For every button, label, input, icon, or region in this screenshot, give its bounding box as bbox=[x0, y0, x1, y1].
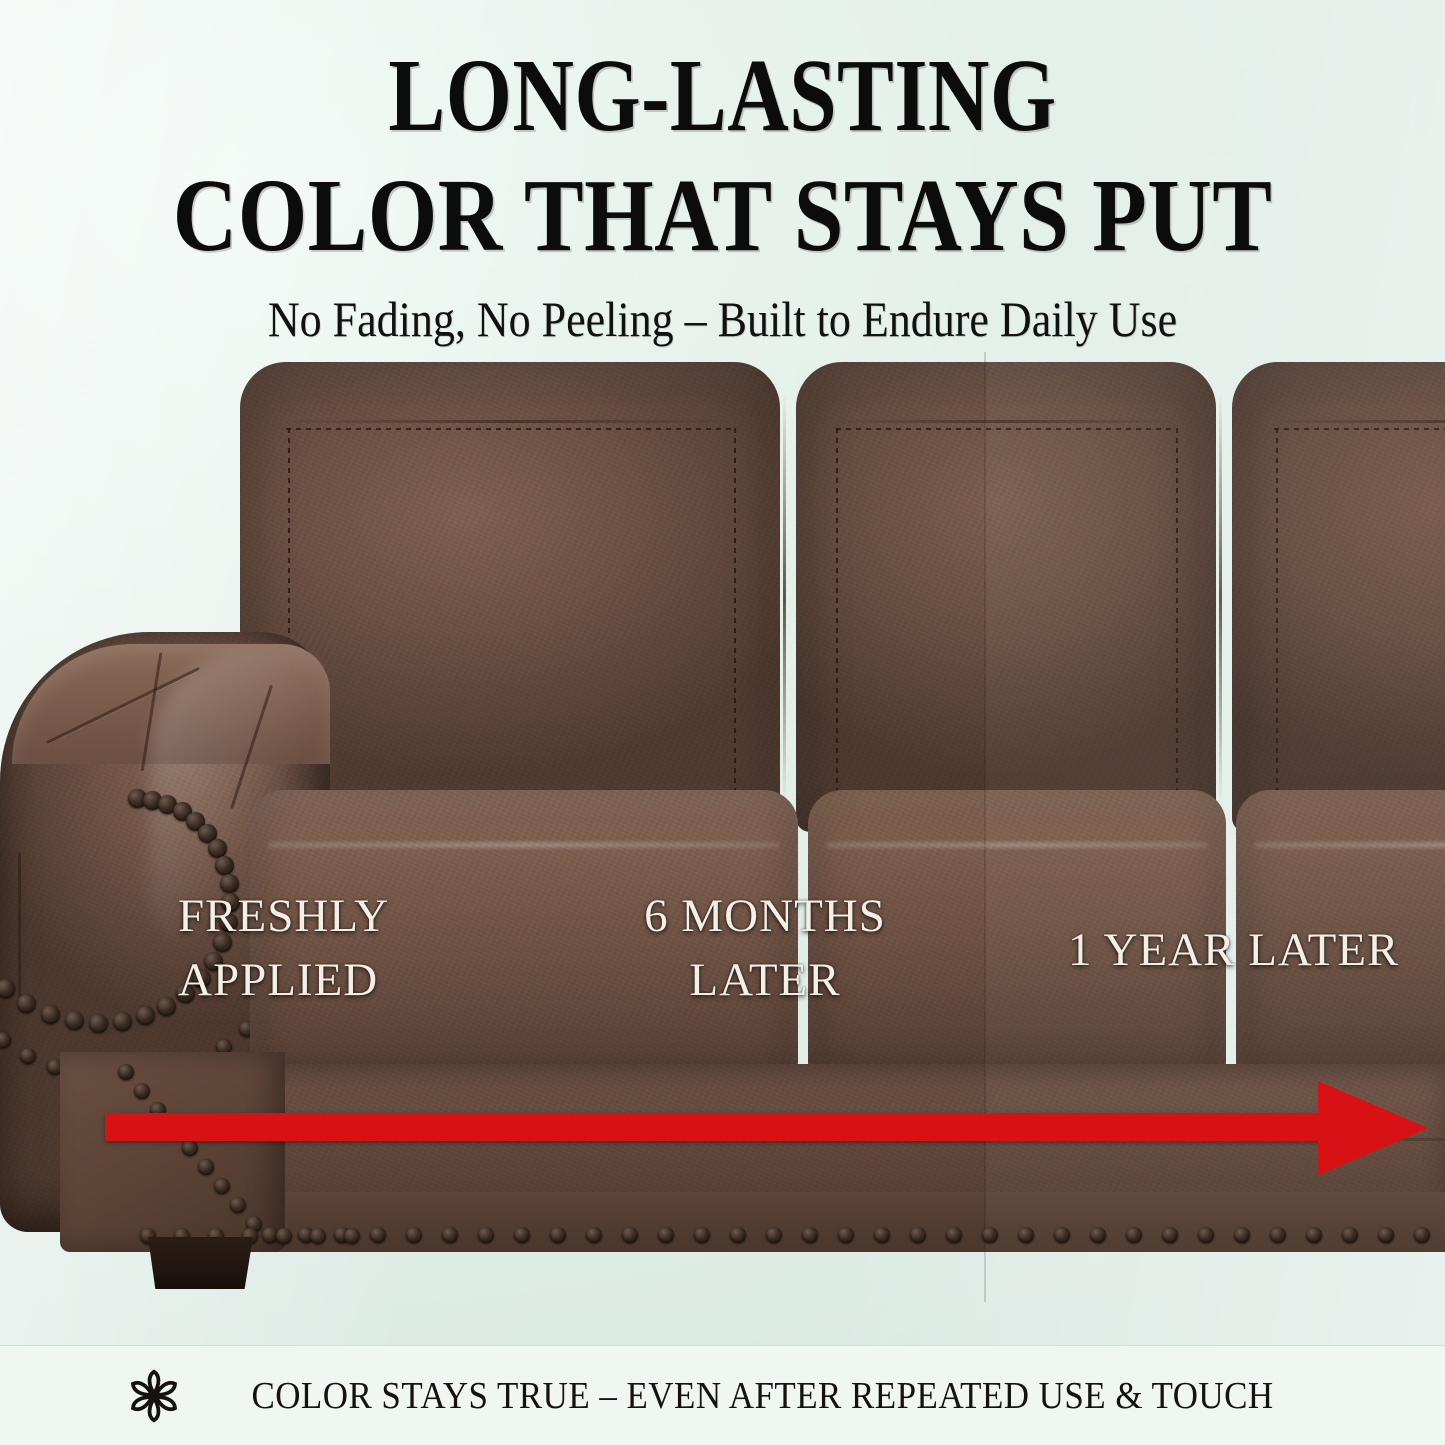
cushion-stitch-right bbox=[1176, 428, 1178, 804]
leather-grain bbox=[1232, 362, 1445, 832]
nailhead-stud bbox=[198, 1159, 214, 1175]
nailhead-stud bbox=[17, 994, 36, 1013]
sofa-photo bbox=[0, 352, 1445, 1302]
nailhead-stud bbox=[1018, 1227, 1034, 1243]
cushion-stitch-top bbox=[1274, 428, 1445, 430]
nailhead-stud bbox=[214, 1178, 230, 1194]
nailhead-stud bbox=[89, 1014, 108, 1033]
nailhead-stud bbox=[658, 1227, 674, 1243]
nailhead-stud bbox=[1198, 1227, 1214, 1243]
stage-label-one-year: 1 YEAR LATER bbox=[1068, 918, 1399, 982]
nailhead-stud bbox=[1378, 1227, 1394, 1243]
nailhead-stud bbox=[310, 1228, 326, 1244]
nailhead-stud bbox=[730, 1227, 746, 1243]
cushion-stitch-left bbox=[1276, 428, 1278, 804]
nailhead-stud bbox=[344, 1228, 360, 1244]
sofa-back-cushions bbox=[240, 362, 1445, 832]
nailhead-stud bbox=[910, 1227, 926, 1243]
subheadline: No Fading, No Peeling – Built to Endure … bbox=[87, 294, 1359, 344]
back-cushion-right bbox=[1232, 362, 1445, 832]
promo-image: LONG-LASTING COLOR THAT STAYS PUT No Fad… bbox=[0, 0, 1445, 1445]
nailhead-stud bbox=[406, 1227, 422, 1243]
nailhead-stud bbox=[1306, 1227, 1322, 1243]
nailhead-stud bbox=[1126, 1227, 1142, 1243]
nailhead-stud bbox=[946, 1227, 962, 1243]
nailhead-stud bbox=[1162, 1227, 1178, 1243]
headline-line-2: COLOR THAT STAYS PUT bbox=[101, 148, 1344, 268]
back-cushion-middle bbox=[796, 362, 1216, 832]
cushion-lip-highlight bbox=[1254, 842, 1445, 848]
sofa-wooden-foot bbox=[148, 1237, 253, 1289]
cushion-top-seam bbox=[836, 420, 1176, 423]
nailhead-stud bbox=[586, 1227, 602, 1243]
nailhead-stud bbox=[1234, 1227, 1250, 1243]
flower-asterisk-icon bbox=[127, 1369, 181, 1423]
nailhead-stud bbox=[1342, 1227, 1358, 1243]
nailhead-stud bbox=[1054, 1227, 1070, 1243]
cushion-lip-highlight bbox=[268, 842, 780, 848]
cushion-stitch-right bbox=[734, 428, 736, 804]
nailhead-stud bbox=[550, 1227, 566, 1243]
nailhead-stud bbox=[442, 1227, 458, 1243]
timeline-arrow-shaft bbox=[105, 1113, 1330, 1141]
nailhead-stud bbox=[514, 1227, 530, 1243]
nailhead-stud bbox=[118, 1064, 134, 1080]
nailhead-stud bbox=[694, 1227, 710, 1243]
nailhead-stud bbox=[802, 1227, 818, 1243]
nailhead-stud bbox=[622, 1227, 638, 1243]
cushion-stitch-top bbox=[836, 428, 1176, 430]
nailhead-stud bbox=[41, 1005, 60, 1024]
nailhead-stud bbox=[1090, 1227, 1106, 1243]
nailhead-stud bbox=[838, 1227, 854, 1243]
nailhead-stud bbox=[370, 1227, 386, 1243]
nailhead-stud bbox=[1270, 1227, 1286, 1243]
nailhead-stud bbox=[134, 1083, 150, 1099]
cushion-top-seam bbox=[280, 420, 740, 423]
nailhead-stud bbox=[766, 1227, 782, 1243]
cushion-lip-highlight bbox=[826, 842, 1208, 848]
nailhead-stud bbox=[276, 1228, 292, 1244]
cushion-top-seam bbox=[1272, 420, 1445, 423]
stage-label-six-months: 6 MONTHS LATER bbox=[640, 884, 890, 1012]
back-seam-1 bbox=[783, 392, 786, 804]
headline-line-1: LONG-LASTING bbox=[130, 0, 1315, 148]
nailhead-stud bbox=[182, 1140, 198, 1156]
footer-banner: COLOR STAYS TRUE – EVEN AFTER REPEATED U… bbox=[0, 1345, 1445, 1445]
footer-text: COLOR STAYS TRUE – EVEN AFTER REPEATED U… bbox=[251, 1374, 1273, 1418]
nailhead-stud bbox=[982, 1227, 998, 1243]
leather-grain bbox=[796, 362, 1216, 832]
cushion-stitch-left bbox=[836, 428, 838, 804]
arm-seam-4 bbox=[18, 852, 21, 1002]
nailhead-stud bbox=[1414, 1227, 1430, 1243]
sofa-base-skirt bbox=[250, 1192, 1445, 1252]
stage-label-freshly-applied: FRESHLY APPLIED bbox=[178, 884, 389, 1012]
cushion-stitch-top bbox=[286, 428, 734, 430]
nailhead-stud bbox=[157, 997, 176, 1016]
back-seam-2 bbox=[1219, 392, 1222, 804]
nailhead-stud bbox=[478, 1227, 494, 1243]
nailhead-stud bbox=[230, 1197, 246, 1213]
nailhead-stud bbox=[874, 1227, 890, 1243]
headline: LONG-LASTING COLOR THAT STAYS PUT bbox=[0, 0, 1445, 268]
nailhead-stud bbox=[20, 1048, 36, 1064]
header-block: LONG-LASTING COLOR THAT STAYS PUT No Fad… bbox=[0, 0, 1445, 344]
